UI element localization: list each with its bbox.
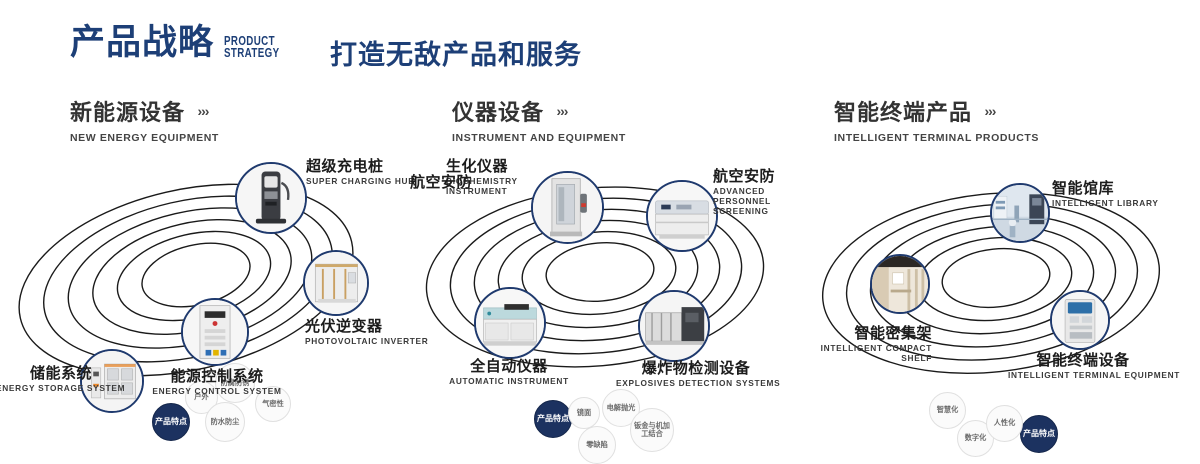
section-title-en: INSTRUMENT AND EQUIPMENT [452,132,626,144]
node-label-cn: 储能系统 [0,365,92,382]
label-intelligent-terminal-equipment: 智能终端设备 INTELLIGENT TERMINAL EQUIPMENT [1008,352,1158,380]
feature-bubble: 人性化 [986,405,1023,442]
node-super-charging-hub[interactable] [235,162,307,234]
chevron-right-triple-icon: ››› [197,103,208,119]
section-title-en: INTELLIGENT TERMINAL PRODUCTS [834,132,1039,144]
node-label-en: EXPLOSIVES DETECTION SYSTEMS [616,378,776,388]
page-tagline: 打造无敌产品和服务 [330,33,582,72]
automatic-instrument-image [476,289,544,357]
core-badge: 产品特点 [152,403,190,441]
section-heading-instrument: 仪器设备 ››› INSTRUMENT AND EQUIPMENT [452,95,626,144]
label-intelligent-library: 智能馆库 INTELLIGENT LIBRARY [1052,180,1172,208]
label-energy-control-system: 能源控制系统 ENERGY CONTROL SYSTEM [128,368,306,396]
page-title-en: PRODUCT STRATEGY [224,35,279,59]
chevron-right-triple-icon: ››› [984,103,995,119]
section-title-en: NEW ENERGY EQUIPMENT [70,132,219,144]
section-title-cn: 智能终端产品 [834,95,972,127]
super-charging-hub-image [237,164,305,232]
label-intelligent-compact-shelf: 智能密集架 INTELLIGENT COMPACT SHELF [804,325,932,363]
section-title-cn: 新能源设备 [70,95,185,127]
section-heading-intelligent-terminal: 智能终端产品 ››› INTELLIGENT TERMINAL PRODUCTS [834,95,1039,144]
node-label-en: AUTOMATIC INSTRUMENT [435,376,583,386]
energy-control-system-image [183,300,247,364]
photovoltaic-inverter-image [305,252,367,314]
feature-bubble: 镜面 [568,397,600,429]
chevron-right-triple-icon: ››› [556,103,567,119]
node-advanced-personnel-screening[interactable] [646,180,718,252]
node-explosives-detection-systems[interactable] [638,290,710,362]
feature-bubble: 防水防尘 [205,402,245,442]
node-intelligent-library[interactable] [990,183,1050,243]
page-title-en-line2: STRATEGY [224,47,279,59]
label-automatic-instrument: 全自动仪器 AUTOMATIC INSTRUMENT [435,358,583,386]
node-label-en: INTELLIGENT COMPACT SHELF [804,343,932,363]
page-title: 产品战略 PRODUCT STRATEGY [70,26,295,61]
node-label-cn: 航空安防 [396,174,472,191]
node-label-cn: 智能终端设备 [1008,352,1158,369]
core-badge: 产品特点 [534,400,572,438]
node-label-cn: 智能馆库 [1052,180,1172,197]
advanced-personnel-screening-image [648,182,716,250]
core-badge: 产品特点 [1020,415,1058,453]
node-label-en: INTELLIGENT TERMINAL EQUIPMENT [1008,370,1158,380]
diagram-instrument: 产品特点 镜面 电解抛光 零缺陷 钣金与机加工结合 生化仪器 BIOCHEMIS… [400,150,800,400]
node-intelligent-compact-shelf[interactable] [870,254,930,314]
diagram-new-energy: 产品特点 户外 防腐防锈 防水防尘 气密性 储能系统 ENERGY STORAG… [0,150,400,400]
feature-bubble: 零缺陷 [578,426,616,464]
node-automatic-instrument[interactable] [474,287,546,359]
node-label-cn: 全自动仪器 [435,358,583,375]
diagram-intelligent-terminal: 产品特点 智慧化 数字化 人性化 智能馆库 INTELLIGENT LIBRAR… [800,150,1200,400]
section-title-cn: 仪器设备 [452,95,544,127]
page-title-cn: 产品战略 [70,26,214,61]
feature-bubble: 智慧化 [929,392,966,429]
label-aviation-security-left: 航空安防 [396,174,472,191]
intelligent-compact-shelf-image [872,256,928,312]
node-intelligent-terminal-equipment[interactable] [1050,290,1110,350]
section-heading-new-energy: 新能源设备 ››› NEW ENERGY EQUIPMENT [70,95,219,144]
intelligent-terminal-equipment-image [1052,292,1108,348]
node-label-cn: 爆炸物检测设备 [616,360,776,377]
node-photovoltaic-inverter[interactable] [303,250,369,316]
product-strategy-infographic: 产品战略 PRODUCT STRATEGY 打造无敌产品和服务 新能源设备 ››… [0,0,1200,422]
intelligent-library-image [992,185,1048,241]
node-label-en: ENERGY STORAGE SYSTEM [0,383,92,393]
node-energy-control-system[interactable] [181,298,249,366]
node-label-en: INTELLIGENT LIBRARY [1052,198,1172,208]
node-label-cn: 智能密集架 [804,325,932,342]
explosives-detection-systems-image [640,292,708,360]
node-label-cn: 能源控制系统 [128,368,306,385]
node-label-en: ENERGY CONTROL SYSTEM [128,386,306,396]
label-energy-storage-system: 储能系统 ENERGY STORAGE SYSTEM [0,365,92,393]
label-explosives-detection-systems: 爆炸物检测设备 EXPLOSIVES DETECTION SYSTEMS [616,360,776,388]
feature-bubble: 钣金与机加工结合 [630,408,674,452]
